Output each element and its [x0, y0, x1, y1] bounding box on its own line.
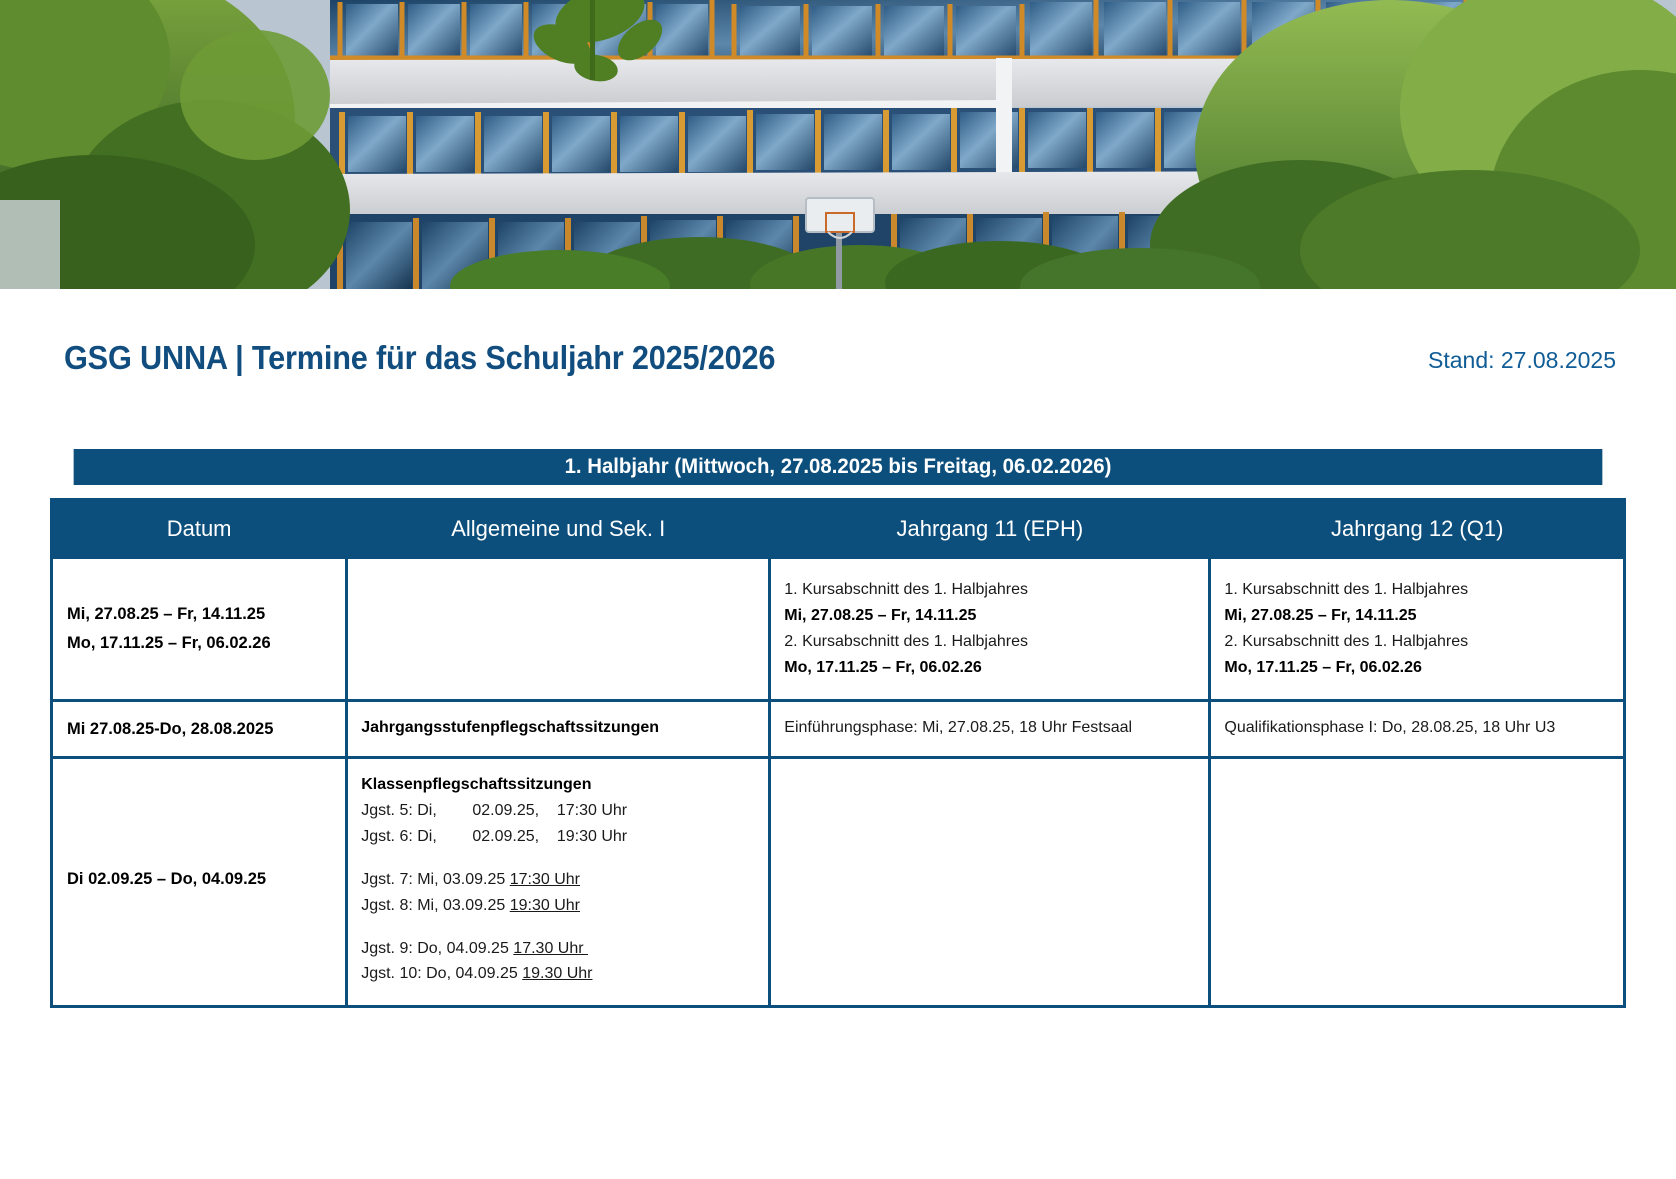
jgst-6-line: Jgst. 6: Di, 02.09.25, 19:30 Uhr	[361, 824, 756, 850]
table-header-row: Datum Allgemeine und Sek. I Jahrgang 11 …	[52, 500, 1625, 558]
hero-photo	[0, 0, 1676, 289]
row3-jg12-cell	[1210, 758, 1625, 1007]
row2-datum-cell: Mi 27.08.25-Do, 28.08.2025	[52, 700, 347, 757]
column-header-jahrgang-11: Jahrgang 11 (EPH)	[770, 500, 1210, 558]
hero-illustration	[0, 0, 1676, 289]
row2-allgemeine-cell: Jahrgangsstufenpflegschaftssitzungen	[347, 700, 770, 757]
revision-date: Stand: 27.08.2025	[1428, 347, 1616, 374]
title-band: GSG UNNA | Termine für das Schuljahr 202…	[0, 289, 1676, 449]
klassenpflegschaft-heading: Klassenpflegschaftssitzungen	[361, 772, 756, 798]
column-header-jahrgang-12: Jahrgang 12 (Q1)	[1210, 500, 1625, 558]
spacer	[361, 850, 756, 867]
halfyear-banner: 1. Halbjahr (Mittwoch, 27.08.2025 bis Fr…	[74, 449, 1603, 485]
row1-datum-cell: Mi, 27.08.25 – Fr, 14.11.25 Mo, 17.11.25…	[52, 558, 347, 701]
table-row: Di 02.09.25 – Do, 04.09.25 Klassenpflegs…	[52, 758, 1625, 1007]
jgst-10-line: Jgst. 10: Do, 04.09.25 19.30 Uhr	[361, 961, 756, 987]
jgst-7-line: Jgst. 7: Mi, 03.09.25 17:30 Uhr	[361, 867, 756, 893]
table-row: Mi, 27.08.25 – Fr, 14.11.25 Mo, 17.11.25…	[52, 558, 1625, 701]
jgst-8-line: Jgst. 8: Mi, 03.09.25 19:30 Uhr	[361, 893, 756, 919]
row3-jg11-cell	[770, 758, 1210, 1007]
page-title: GSG UNNA | Termine für das Schuljahr 202…	[64, 339, 775, 377]
schedule-table: Datum Allgemeine und Sek. I Jahrgang 11 …	[50, 498, 1626, 1008]
column-header-datum: Datum	[52, 500, 347, 558]
row1-allgemeine-cell	[347, 558, 770, 701]
row3-datum-cell: Di 02.09.25 – Do, 04.09.25	[52, 758, 347, 1007]
spacer	[361, 919, 756, 936]
row1-jg11-cell: 1. Kursabschnitt des 1. Halbjahres Mi, 2…	[770, 558, 1210, 701]
row2-jg11-cell: Einführungsphase: Mi, 27.08.25, 18 Uhr F…	[770, 700, 1210, 757]
jgst-9-line: Jgst. 9: Do, 04.09.25 17.30 Uhr	[361, 936, 756, 962]
schedule-table-body: Mi, 27.08.25 – Fr, 14.11.25 Mo, 17.11.25…	[52, 558, 1625, 1007]
row2-jg12-cell: Qualifikationsphase I: Do, 28.08.25, 18 …	[1210, 700, 1625, 757]
column-header-allgemeine: Allgemeine und Sek. I	[347, 500, 770, 558]
row1-jg12-cell: 1. Kursabschnitt des 1. Halbjahres Mi, 2…	[1210, 558, 1625, 701]
schedule-section: 1. Halbjahr (Mittwoch, 27.08.2025 bis Fr…	[0, 449, 1676, 1008]
jgst-5-line: Jgst. 5: Di, 02.09.25, 17:30 Uhr	[361, 798, 756, 824]
row3-allgemeine-cell: Klassenpflegschaftssitzungen Jgst. 5: Di…	[347, 758, 770, 1007]
table-row: Mi 27.08.25-Do, 28.08.2025 Jahrgangsstuf…	[52, 700, 1625, 757]
